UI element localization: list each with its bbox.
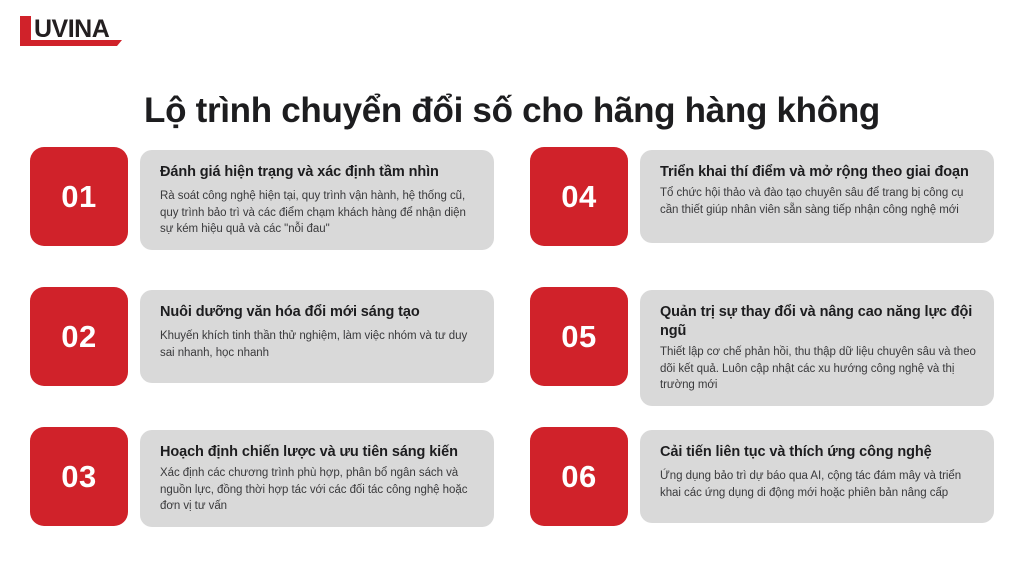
step-heading: Hoạch định chiến lược và ưu tiên sáng ki…	[160, 443, 478, 462]
step-heading: Đánh giá hiện trạng và xác định tầm nhìn	[160, 163, 478, 182]
step-body: Thiết lập cơ chế phản hồi, thu thập dữ l…	[660, 344, 978, 394]
step-heading: Cải tiến liên tục và thích ứng công nghệ	[660, 443, 978, 462]
step-content-panel: Hoạch định chiến lược và ưu tiên sáng ki…	[140, 430, 494, 527]
brand-logo-text: UVINA	[34, 16, 109, 42]
step-content-panel: Nuôi dưỡng văn hóa đổi mới sáng tạo Khuy…	[140, 290, 494, 383]
step-content-panel: Cải tiến liên tục và thích ứng công nghệ…	[640, 430, 994, 523]
step-heading: Triển khai thí điểm và mở rộng theo giai…	[660, 163, 978, 182]
step-card-03[interactable]: 03 Hoạch định chiến lược và ưu tiên sáng…	[12, 418, 512, 558]
step-body: Tổ chức hội thảo và đào tạo chuyên sâu đ…	[660, 185, 978, 218]
step-content-panel: Triển khai thí điểm và mở rộng theo giai…	[640, 150, 994, 243]
roadmap-steps-grid: 01 Đánh giá hiện trạng và xác định tầm n…	[0, 138, 1024, 558]
step-body: Rà soát công nghệ hiện tại, quy trình vậ…	[160, 188, 478, 238]
step-card-04[interactable]: 04 Triển khai thí điểm và mở rộng theo g…	[512, 138, 1012, 278]
step-content-panel: Quản trị sự thay đổi và nâng cao năng lự…	[640, 290, 994, 406]
step-number-badge: 01	[30, 147, 128, 246]
step-body: Xác định các chương trình phù hợp, phân …	[160, 465, 478, 515]
step-body: Khuyến khích tinh thần thử nghiệm, làm v…	[160, 328, 478, 361]
step-number-badge: 05	[530, 287, 628, 386]
step-card-05[interactable]: 05 Quản trị sự thay đổi và nâng cao năng…	[512, 278, 1012, 418]
step-number-badge: 04	[530, 147, 628, 246]
step-number-badge: 03	[30, 427, 128, 526]
step-card-06[interactable]: 06 Cải tiến liên tục và thích ứng công n…	[512, 418, 1012, 558]
step-body: Ứng dụng bảo trì dự báo qua AI, cộng tác…	[660, 468, 978, 501]
page-title: Lộ trình chuyển đổi số cho hãng hàng khô…	[0, 89, 1024, 133]
step-card-02[interactable]: 02 Nuôi dưỡng văn hóa đổi mới sáng tạo K…	[12, 278, 512, 418]
step-number-badge: 02	[30, 287, 128, 386]
step-content-panel: Đánh giá hiện trạng và xác định tầm nhìn…	[140, 150, 494, 250]
brand-logo: UVINA	[18, 13, 122, 47]
step-heading: Quản trị sự thay đổi và nâng cao năng lự…	[660, 303, 978, 341]
step-number-badge: 06	[530, 427, 628, 526]
step-heading: Nuôi dưỡng văn hóa đổi mới sáng tạo	[160, 303, 478, 322]
step-card-01[interactable]: 01 Đánh giá hiện trạng và xác định tầm n…	[12, 138, 512, 278]
